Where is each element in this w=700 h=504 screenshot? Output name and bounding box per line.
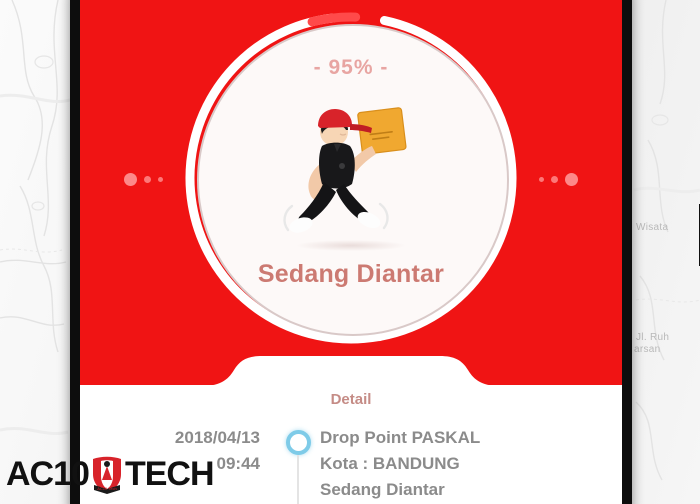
entry-line: Drop Point PASKAL: [320, 425, 622, 451]
entry-date: 2018/04/13: [80, 425, 260, 451]
timeline-marker: [276, 425, 320, 504]
map-label: Wisata: [636, 222, 668, 233]
map-label: Jl. Ruh: [636, 332, 669, 343]
tracking-hero-panel: - 95% -: [80, 0, 622, 382]
phone-screen: - 95% -: [80, 0, 622, 504]
watermark-right-text: TECH: [125, 455, 214, 494]
phone-device: - 95% -: [70, 0, 632, 504]
running-courier-icon: [276, 100, 426, 242]
map-label: arsan: [634, 344, 661, 355]
timeline-line: [297, 455, 299, 504]
progress-dot: [158, 177, 163, 182]
courier-shadow: [297, 240, 405, 251]
progress-dots-left: [124, 168, 163, 190]
shield-logo-icon: AC10 Tech: [90, 454, 124, 494]
progress-dot: [124, 173, 137, 186]
progress-dot: [144, 176, 151, 183]
timeline-dot-icon: [286, 430, 311, 455]
delivery-status-label: Sedang Diantar: [181, 260, 521, 289]
shield-logo-text: AC10 Tech: [97, 486, 117, 491]
progress-circle[interactable]: - 95% -: [181, 8, 521, 348]
progress-dot: [539, 177, 544, 182]
detail-tab-notch[interactable]: [80, 356, 622, 386]
watermark-left-text: AC10: [6, 455, 89, 494]
watermark: AC10 AC10 Tech TECH: [6, 452, 214, 496]
detail-tab-label: Detail: [80, 391, 622, 408]
progress-percent-label: - 95% -: [181, 56, 521, 80]
entry-line: Sedang Diantar: [320, 477, 622, 503]
progress-dot: [565, 173, 578, 186]
progress-dots-right: [539, 168, 578, 190]
entry-line: Kota : BANDUNG: [320, 451, 622, 477]
entry-description: Drop Point PASKAL Kota : BANDUNG Sedang …: [320, 425, 622, 503]
progress-dot: [551, 176, 558, 183]
screenshot-stage: Wisata Jl. Ruh arsan: [0, 0, 700, 504]
